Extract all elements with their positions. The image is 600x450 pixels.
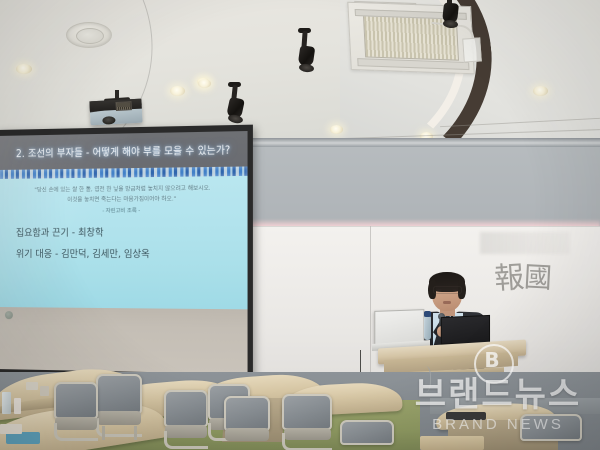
- chair-armrest: [282, 433, 332, 450]
- chair-back: [282, 394, 332, 430]
- chair-back: [520, 414, 582, 441]
- chair: [224, 396, 270, 450]
- chair-armrest: [164, 431, 208, 449]
- chair-back: [224, 396, 270, 431]
- chair-seat: [225, 428, 268, 440]
- projector-icon: [89, 99, 142, 126]
- wall-cornice: [240, 138, 600, 147]
- cup-clutter: [14, 398, 21, 414]
- screen-surface: 2. 조선의 부자들 - 어떻게 해야 부를 모을 수 있는가? "당신 손에 …: [0, 131, 248, 374]
- slide-bullet-item: 집요함과 끈기 - 최창학: [16, 226, 237, 242]
- box-clutter: [420, 436, 484, 450]
- eye-right: [452, 289, 457, 291]
- ac-sensor-box: [462, 37, 482, 62]
- projector-vent: [115, 101, 131, 111]
- bag-clutter: [446, 412, 486, 420]
- slide-footer: [0, 307, 248, 374]
- downlight: [198, 79, 211, 88]
- slide-quote-source: - 자린고비 조록 -: [10, 206, 237, 215]
- upper-right-wall: [240, 140, 600, 230]
- bottle-clutter: [2, 392, 11, 414]
- chair: [340, 420, 394, 450]
- projector-lens: [102, 116, 115, 125]
- ceiling-speaker-icon: [66, 22, 112, 48]
- whiteboard-erased-marks: [480, 232, 570, 254]
- whiteboard-character-1: 報: [493, 252, 526, 298]
- chair-back: [96, 374, 142, 414]
- slide-body: "당신 손에 있는 쌀 한 톨, 엽전 한 닢을 방금처럼 놓치지 않으려고 해…: [0, 176, 248, 309]
- paper-clutter: [26, 382, 38, 390]
- slide-logo-icon: [5, 311, 13, 319]
- downlight: [16, 64, 32, 74]
- chair-back: [54, 382, 98, 419]
- paper-clutter: [40, 386, 49, 396]
- slide-bullet-list: 집요함과 끈기 - 최창학 위기 대응 - 김만덕, 김세만, 임상옥: [10, 227, 237, 263]
- second-laptop-icon: [441, 315, 490, 345]
- chair: [54, 382, 98, 442]
- chair: [164, 390, 208, 450]
- chair-armrest: [54, 423, 98, 441]
- mouth: [443, 301, 451, 304]
- chair-back: [164, 390, 208, 427]
- slide-bullet-item: 위기 대응 - 김만덕, 김세만, 임상옥: [16, 248, 237, 264]
- whiteboard-character-2: 國: [523, 255, 553, 296]
- photo-scene: 報 國 2. 조선의 부자들 - 어떻게 해야 부를 모을 수 있는가? "당신…: [0, 0, 600, 450]
- downlight: [330, 125, 343, 134]
- eye-left: [437, 289, 442, 291]
- paper-clutter: [0, 424, 22, 434]
- chair: [282, 394, 332, 450]
- projection-screen: 2. 조선의 부자들 - 어떻게 해야 부를 모을 수 있는가? "당신 손에 …: [0, 125, 253, 381]
- hanging-wire: [418, 366, 431, 392]
- downlight: [533, 86, 548, 96]
- slide-title: 2. 조선의 부자들 - 어떻게 해야 부를 모을 수 있는가?: [16, 141, 230, 161]
- chair-back: [340, 420, 394, 445]
- downlight: [170, 86, 185, 96]
- chair: [96, 374, 142, 438]
- water-bottle-cap: [424, 311, 431, 317]
- slide-title-bar: 2. 조선의 부자들 - 어떻게 해야 부를 모을 수 있는가?: [0, 131, 248, 170]
- water-bottle-icon: [424, 316, 431, 340]
- slide-quote: "당신 손에 있는 쌀 한 톨, 엽전 한 닢을 방금처럼 놓치지 않으려고 해…: [10, 183, 237, 206]
- chair: [520, 414, 582, 450]
- presentation-slide: 2. 조선의 부자들 - 어떻게 해야 부를 모을 수 있는가? "당신 손에 …: [0, 131, 248, 374]
